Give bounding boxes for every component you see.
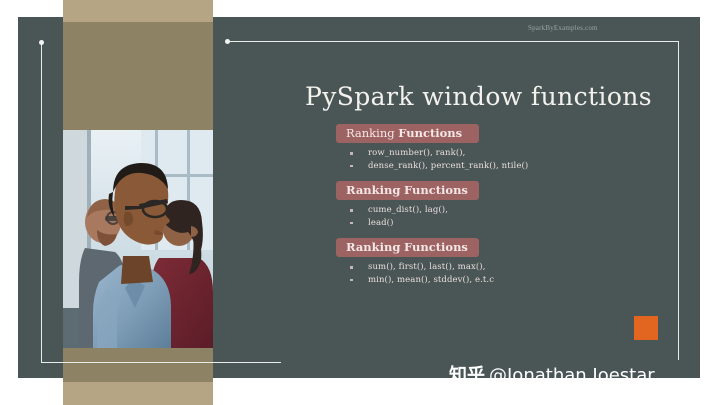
list-item: cume_dist(), lag(), <box>336 204 676 217</box>
section-heading-word2-3: Functions <box>404 240 468 254</box>
decorative-dot-top <box>225 39 230 44</box>
zhihu-watermark: 知乎@Jonathan Joestar <box>449 361 655 387</box>
section-heading-word2-1: Functions <box>398 126 462 140</box>
list-item: dense_rank(), percent_rank(), ntile() <box>336 160 676 173</box>
section-heading-word2-2: Functions <box>404 183 468 197</box>
site-watermark: SparkByExamples.com <box>528 24 598 32</box>
zhihu-logo-text: 知乎 <box>449 365 485 386</box>
section-heading-word1-1: Ranking <box>346 126 395 140</box>
section-ranking-functions-3: Ranking Functions sum(), first(), last()… <box>336 238 676 286</box>
decorative-line-bottom <box>41 362 281 363</box>
section-ranking-functions-1: Ranking Functions row_number(), rank(), … <box>336 124 676 172</box>
sections-container: Ranking Functions row_number(), rank(), … <box>336 124 676 295</box>
list-item: min(), mean(), stddev(), e.t.c <box>336 274 676 287</box>
people-photo <box>63 130 213 348</box>
list-item: row_number(), rank(), <box>336 147 676 160</box>
section-heading-banner-3: Ranking Functions <box>336 238 479 257</box>
section-bullet-list-3: sum(), first(), last(), max(), min(), me… <box>336 261 676 286</box>
page-title: PySpark window functions <box>305 82 705 111</box>
section-bullet-list-1: row_number(), rank(), dense_rank(), perc… <box>336 147 676 172</box>
section-heading-banner-2: Ranking Functions <box>336 181 479 200</box>
section-ranking-functions-2: Ranking Functions cume_dist(), lag(), le… <box>336 181 676 229</box>
decorative-dot-left <box>39 40 44 45</box>
section-bullet-list-2: cume_dist(), lag(), lead() <box>336 204 676 229</box>
section-heading-word1-3: Ranking <box>346 240 400 254</box>
decorative-line-left <box>41 42 42 362</box>
section-heading-word1-2: Ranking <box>346 183 400 197</box>
section-heading-banner-1: Ranking Functions <box>336 124 479 143</box>
list-item: lead() <box>336 217 676 230</box>
people-photo-illustration <box>63 130 213 348</box>
slide-canvas: SparkByExamples.com PySpark window funct… <box>0 0 720 405</box>
orange-accent-square <box>634 316 658 340</box>
decorative-line-top <box>227 41 679 42</box>
list-item: sum(), first(), last(), max(), <box>336 261 676 274</box>
zhihu-username: @Jonathan Joestar <box>489 365 655 386</box>
